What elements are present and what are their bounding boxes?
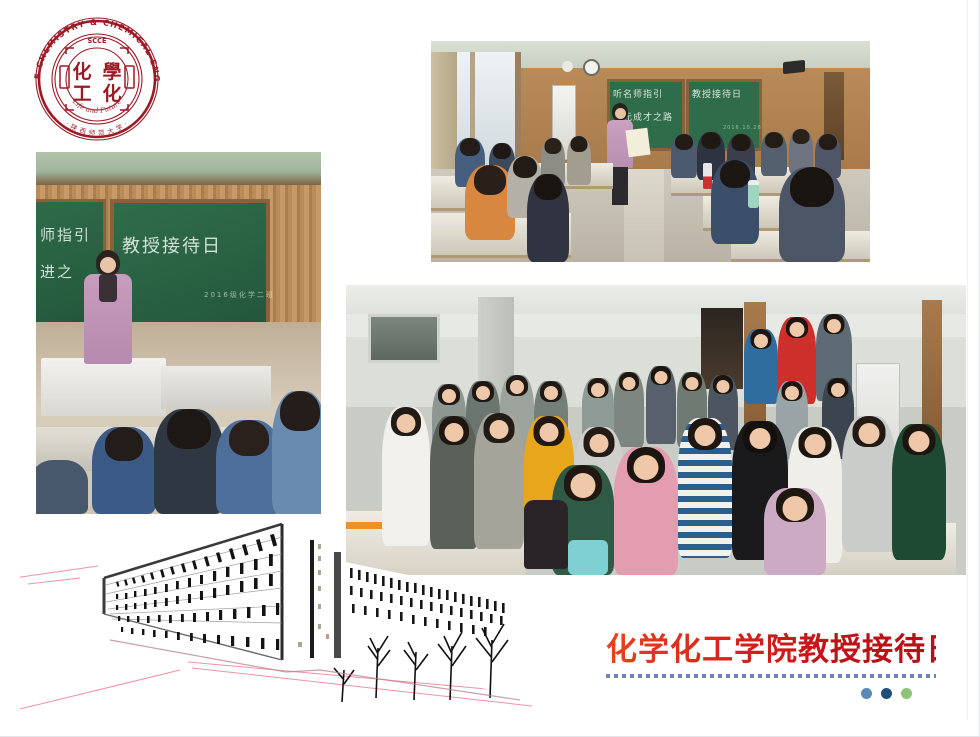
chalk-text-3: 教授接待日: [122, 232, 222, 258]
photo-classroom-left: 师指引 进之 教授接待日 2016级化学二班: [36, 152, 321, 514]
ceiling: [346, 285, 966, 314]
wall-clock: [583, 59, 600, 76]
handout-paper: [625, 128, 650, 157]
tote-bag: [568, 540, 608, 575]
svg-text:化: 化: [102, 82, 121, 105]
svg-text:工: 工: [72, 83, 91, 105]
chalk-text-2: 进之: [40, 261, 74, 282]
person-figure: [678, 418, 732, 557]
slide-canvas: SCHOOL OF CHEMISTRY & CHEMICAL ENGINEERI…: [0, 0, 980, 737]
seal-abbrev-text: SCCE: [88, 37, 107, 45]
wall-speaker: [783, 60, 805, 74]
dotted-rule-divider: [606, 674, 936, 678]
student-figure: [671, 134, 697, 178]
water-bottle: [703, 163, 712, 189]
chalk-text-1: 师指引: [40, 224, 91, 245]
seal-university-text: · 陕 西 师 范 大 学 ·: [64, 120, 129, 137]
person-figure: [614, 372, 644, 447]
person-figure: [646, 366, 676, 444]
chalk-text-4: 2016.10.26: [723, 125, 762, 131]
student-figure: [36, 460, 88, 514]
student-figure: [527, 174, 569, 262]
water-bottle: [748, 180, 759, 208]
person-figure: [430, 416, 478, 549]
student-figure: [567, 136, 591, 185]
page-title: 化学化工学院教授接待日: [606, 630, 936, 670]
page-border-inner-right: [967, 0, 968, 720]
svg-text:化: 化: [72, 60, 91, 83]
curtain: [431, 52, 457, 174]
desk-row-a: [161, 366, 271, 409]
seal-center-characters: 化 學 工 化: [72, 60, 121, 105]
chalk-text-4: 2016级化学二班: [204, 290, 275, 300]
person-figure: [614, 447, 678, 575]
backpack: [524, 500, 568, 570]
student-figure: [272, 391, 321, 514]
chalk-text-1: 听名师指引: [613, 87, 663, 100]
student-figure: [92, 427, 156, 514]
photo-classroom-wide: 听名师指引 多元成才之路 教授接待日 2016.10.26: [431, 41, 870, 262]
photo-group: [346, 285, 966, 575]
student-figure: [761, 132, 787, 176]
student-figure: [154, 409, 224, 514]
teacher-figure: [84, 250, 132, 366]
person-figure: [892, 424, 946, 560]
teacher-figure: [764, 488, 826, 575]
title-block: 化学化工学院教授接待日: [606, 630, 936, 700]
person-figure: [474, 413, 524, 549]
dot-green: [901, 688, 912, 699]
decorative-dots: [861, 688, 912, 699]
chalk-text-3: 教授接待日: [692, 87, 742, 100]
svg-text:學: 學: [102, 61, 121, 83]
window: [368, 314, 440, 363]
security-camera: [562, 61, 573, 72]
ceiling-strip: [36, 152, 321, 185]
school-seal-logo: SCHOOL OF CHEMISTRY & CHEMICAL ENGINEERI…: [22, 10, 178, 142]
person-figure: [382, 407, 430, 546]
podium: [41, 358, 166, 416]
student-figure: [779, 167, 845, 262]
person-figure: [744, 329, 778, 404]
dot-light-blue: [861, 688, 872, 699]
person-figure: [842, 416, 896, 552]
dot-dark-blue: [881, 688, 892, 699]
